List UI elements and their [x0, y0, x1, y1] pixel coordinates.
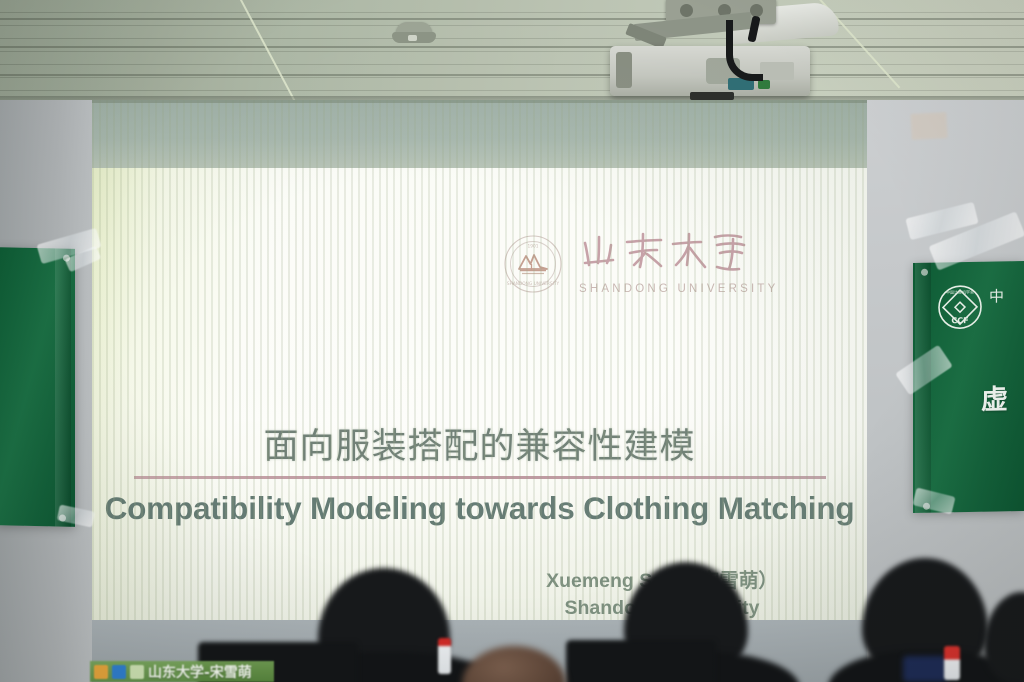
- water-bottle: [438, 638, 451, 674]
- slide-title-chinese: 面向服装搭配的兼容性建模: [92, 418, 867, 469]
- screen-top-edge: [92, 100, 867, 103]
- green-banner-left: [0, 247, 75, 527]
- smoke-detector-icon: [392, 22, 436, 48]
- caption-text: 山东大学-宋雪萌: [148, 662, 252, 682]
- screen-upper-band: [92, 100, 867, 170]
- ccf-logo-icon: CCF 中国计算机学会: [937, 284, 983, 331]
- caption-chip-icon: [94, 665, 108, 679]
- banner-headline-chinese: 虚: [981, 377, 1024, 417]
- water-bottle: [944, 646, 960, 680]
- projector-led: [758, 80, 770, 89]
- projector-body: [610, 46, 810, 96]
- svg-text:SHANDONG UNIVERSITY: SHANDONG UNIVERSITY: [507, 281, 560, 287]
- ccf-org-text: 中: [989, 287, 1024, 307]
- slide-surface: SHANDONG UNIVERSITY 1901: [92, 168, 867, 625]
- author-affiliation: Shandong University: [492, 595, 832, 622]
- svg-text:CCF: CCF: [951, 316, 968, 325]
- wordmark-chinese: [577, 229, 747, 275]
- wall-patch: [910, 112, 947, 140]
- ceiling-projector: [598, 0, 828, 104]
- shandong-university-logo: SHANDONG UNIVERSITY 1901: [503, 226, 753, 302]
- svg-text:中国计算机学会: 中国计算机学会: [946, 288, 974, 294]
- caption-bar: 山东大学-宋雪萌: [90, 661, 274, 682]
- lanyard: [903, 656, 947, 682]
- caption-chip-icon: [130, 665, 144, 679]
- projector-vent: [616, 52, 632, 88]
- shandong-university-wordmark: SHANDONG UNIVERSITY: [577, 231, 747, 297]
- caption-chip-icon: [112, 665, 126, 679]
- projection-screen: SHANDONG UNIVERSITY 1901: [92, 100, 867, 625]
- green-banner-right: CCF 中国计算机学会 中 虚: [913, 261, 1024, 513]
- shandong-university-emblem-icon: SHANDONG UNIVERSITY 1901: [503, 234, 563, 294]
- projector-panel: [760, 62, 794, 80]
- projector-foot: [690, 92, 734, 100]
- ceiling: [0, 0, 1024, 104]
- title-divider: [134, 476, 826, 479]
- slide-author-block: Xuemeng Song (宋雪萌） Shandong University s…: [492, 568, 832, 625]
- slide-title-english: Compatibility Modeling towards Clothing …: [92, 490, 867, 527]
- conference-photo: SHANDONG UNIVERSITY 1901: [0, 0, 1024, 682]
- svg-text:1901: 1901: [528, 244, 539, 250]
- author-name: Xuemeng Song (宋雪萌）: [492, 568, 832, 595]
- wordmark-english: SHANDONG UNIVERSITY: [579, 283, 778, 295]
